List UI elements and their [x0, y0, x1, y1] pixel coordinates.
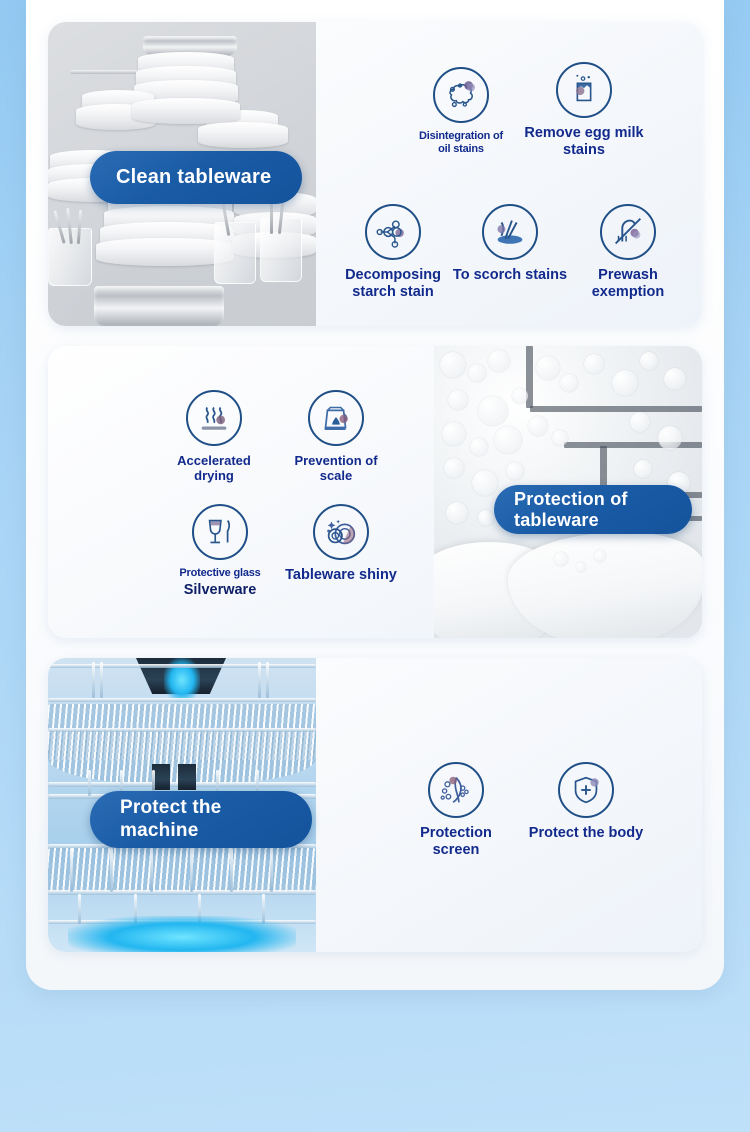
shield-plus-icon	[558, 762, 614, 818]
feature-label: Tableware shiny	[285, 567, 397, 584]
prewash-faucet-icon	[600, 204, 656, 260]
feature-prewash[interactable]: Prewash exemption	[578, 204, 678, 301]
feature-prevention-of-scale[interactable]: Prevention of scale	[276, 390, 396, 483]
milk-glass-icon	[556, 62, 612, 118]
panel-clean-tableware: Disintegration of oil stains Remo	[48, 22, 702, 326]
feature-label: Protective glass	[179, 567, 260, 580]
card-stack: Disintegration of oil stains Remo	[26, 0, 724, 990]
kettle-scale-icon	[308, 390, 364, 446]
steam-drying-icon	[186, 390, 242, 446]
feature-label: Remove egg milk stains	[524, 125, 643, 159]
feature-label: Accelerated drying	[177, 453, 251, 483]
feature-scorch[interactable]: To scorch stains	[446, 204, 574, 284]
feature-label: Protect the body	[529, 825, 643, 842]
pill-protection-of-tableware[interactable]: Protection of tableware	[494, 485, 692, 534]
oil-stain-icon	[433, 67, 489, 123]
feature-label: Prevention of scale	[294, 453, 377, 483]
scorch-pan-icon	[482, 204, 538, 260]
feature-label: Prewash exemption	[592, 267, 665, 301]
feature-protect-the-body[interactable]: Protect the body	[516, 762, 656, 842]
panel-protection-of-tableware: Accelerated drying Prevention of	[48, 346, 702, 638]
feature-label: Protection screen	[420, 825, 492, 859]
feature-label-secondary: Silverware	[184, 582, 257, 598]
molecule-icon	[365, 204, 421, 260]
feature-label: Disintegration of oil stains	[419, 130, 503, 156]
shiny-plates-icon	[313, 504, 369, 560]
feature-protection-screen[interactable]: Protection screen	[398, 762, 514, 859]
feature-starch[interactable]: Decomposing starch stain	[334, 204, 452, 301]
feature-protective-glass-silverware[interactable]: Protective glass Silverware	[156, 504, 284, 598]
features-protection-of-tableware: Accelerated drying Prevention of	[48, 346, 434, 638]
glass-knife-icon	[192, 504, 248, 560]
feature-label: To scorch stains	[453, 267, 567, 284]
pill-clean-tableware[interactable]: Clean tableware	[90, 151, 302, 204]
feature-accelerated-drying[interactable]: Accelerated drying	[156, 390, 272, 483]
pill-protect-the-machine[interactable]: Protect the machine	[90, 791, 312, 848]
feature-label: Decomposing starch stain	[345, 267, 441, 301]
features-clean-tableware: Disintegration of oil stains Remo	[316, 22, 702, 326]
feature-egg-milk[interactable]: Remove egg milk stains	[521, 62, 647, 159]
feature-oil-stain[interactable]: Disintegration of oil stains	[401, 67, 521, 156]
features-protect-the-machine: Protection screen Protect the body	[316, 658, 702, 952]
panel-protect-the-machine: Protection screen Protect the body P	[48, 658, 702, 952]
filter-screen-icon	[428, 762, 484, 818]
feature-tableware-shiny[interactable]: Tableware shiny	[276, 504, 406, 584]
